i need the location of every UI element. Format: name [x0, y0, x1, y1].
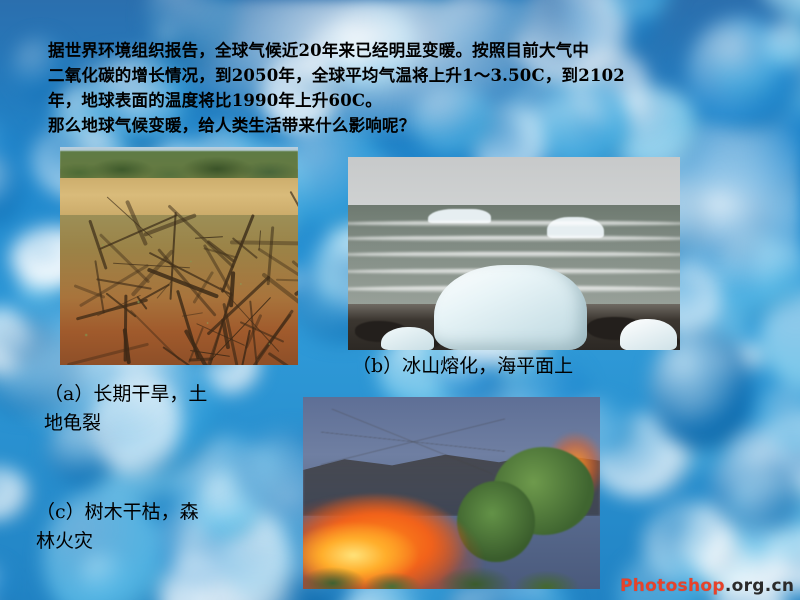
photo-b-wave-1 [348, 221, 680, 226]
body-line-4: 那么地球气候变暖，给人类生活带来什么影响呢？ [48, 113, 760, 138]
forest-fire-photo [303, 397, 600, 589]
slide-body-text: 据世界环境组织报告，全球气候近20年来已经明显变暖。按照目前大气中 二氧化碳的增… [48, 38, 760, 138]
body-line-1: 据世界环境组织报告，全球气候近20年来已经明显变暖。按照目前大气中 [48, 38, 760, 63]
photo-b-overcast-sky [348, 157, 680, 207]
watermark-brand: Photoshop [620, 576, 725, 596]
photo-b-wave-3 [348, 252, 680, 257]
body-line-2: 二氧化碳的增长情况，到2050年，全球平均气温将上升1～3.50C，到2102 [48, 63, 760, 88]
caption-forest-fire: （c）树木干枯，森 林火灾 [36, 498, 291, 556]
photo-b-distant-iceberg-right [547, 217, 603, 238]
photo-b-ice-chunk-right [620, 319, 676, 350]
photo-b-wave-2 [348, 236, 680, 241]
melting-icebergs-sea-photo [348, 157, 680, 350]
photo-c-foreground-scrub [303, 531, 600, 589]
watermark-domain: .org.cn [725, 576, 794, 596]
presentation-slide: 据世界环境组织报告，全球气候近20年来已经明显变暖。按照目前大气中 二氧化碳的增… [0, 0, 800, 600]
body-line-3: 年，地球表面的温度将比1990年上升60C。 [48, 88, 760, 113]
photo-a-sparse-vegetation [60, 215, 298, 365]
watermark: Photoshop.org.cn [620, 576, 794, 596]
drought-cracked-earth-photo [60, 147, 298, 365]
caption-drought: （a）长期干旱，土 地龟裂 [44, 380, 294, 438]
caption-icebergs: （b）冰山熔化，海平面上 [352, 352, 672, 381]
photo-b-foreground-iceberg [434, 265, 587, 350]
photo-b-ice-chunk-left [381, 327, 434, 350]
